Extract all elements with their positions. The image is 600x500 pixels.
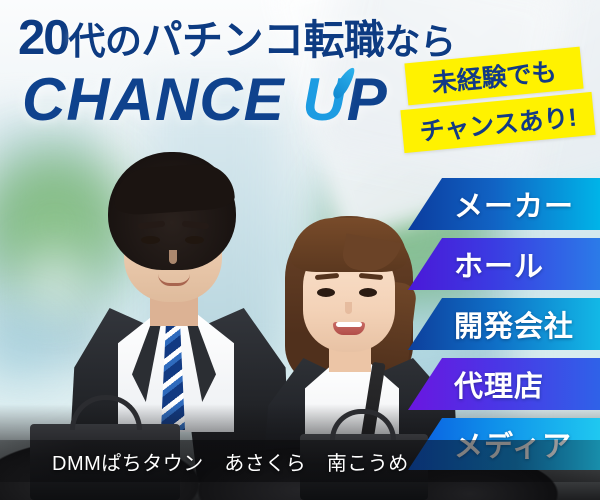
man-nose xyxy=(169,250,177,264)
chance-up-logo: CHANCE UP xyxy=(22,70,388,130)
promo-badge: 未経験でも チャンスあり! xyxy=(402,55,597,155)
category-label: メーカー xyxy=(454,183,574,225)
caption-bar: DMMぱちタウン あさくら 南こうめ xyxy=(0,440,600,482)
caption-text: DMMぱちタウン あさくら 南こうめ xyxy=(52,447,409,476)
category-item-agency[interactable]: 代理店 xyxy=(408,358,600,410)
logo-letter-u: U xyxy=(302,70,346,130)
woman-mouth xyxy=(333,322,365,335)
logo-text-chance: CHANCE xyxy=(22,66,302,133)
category-label: ホール xyxy=(454,243,544,285)
category-label: 開発会社 xyxy=(454,303,574,345)
category-list: メーカー ホール 開発会社 代理店 メディア xyxy=(408,178,600,478)
headline: 20代のパチンコ転職なら xyxy=(18,14,456,63)
woman-bangs xyxy=(291,218,407,272)
man-eye-right xyxy=(185,236,204,244)
headline-number: 20 xyxy=(18,11,69,65)
category-item-maker[interactable]: メーカー xyxy=(408,178,600,230)
category-label: 代理店 xyxy=(454,363,544,405)
woman-eye-left xyxy=(317,288,335,297)
category-item-hall[interactable]: ホール xyxy=(408,238,600,290)
category-item-developer[interactable]: 開発会社 xyxy=(408,298,600,350)
headline-middle: パチンコ転職 xyxy=(142,17,385,63)
headline-dai: 代の xyxy=(69,21,142,62)
woman-nose xyxy=(345,302,352,314)
woman-eye-right xyxy=(359,288,377,297)
man-eye-left xyxy=(141,236,160,244)
advertisement-banner[interactable]: 20代のパチンコ転職なら CHANCE UP 未経験でも チャンスあり! メーカ… xyxy=(0,0,600,500)
